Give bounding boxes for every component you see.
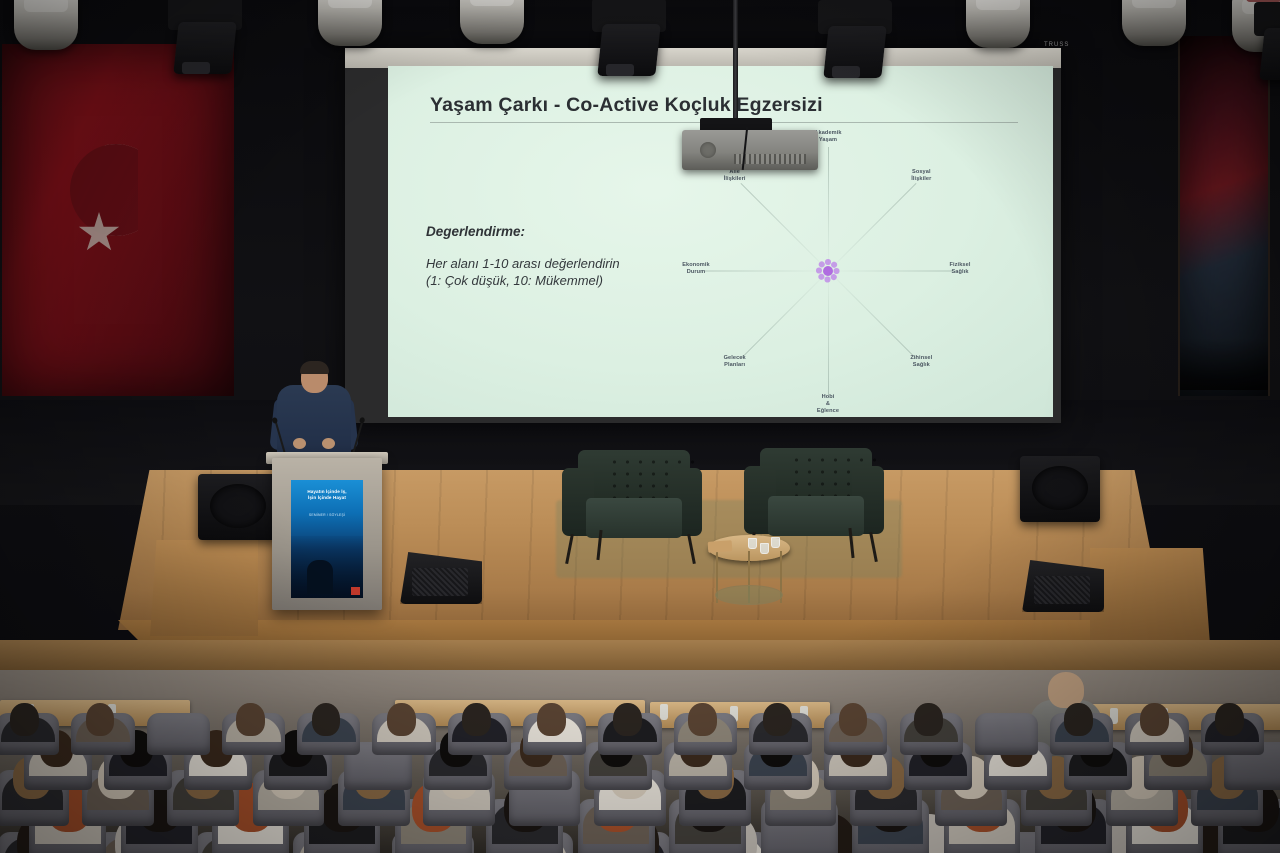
poster-logo: [351, 587, 360, 595]
audience-member-head: [688, 703, 717, 735]
portrait-frame: [1178, 36, 1270, 396]
audience-member-head: [839, 703, 868, 735]
presenter-hand-right: [322, 438, 335, 449]
speaker-grill: [412, 568, 468, 596]
wheel-segment-label: Ekonomik Durum: [666, 262, 726, 276]
water-bottle: [660, 704, 668, 720]
wheel-segment-label: Gelecek Planları: [705, 355, 765, 369]
poster-title: Hayatın İçinde İş, İşin İçinde Hayat: [291, 489, 363, 501]
poster-subtitle: SEMİNER / SÖYLEŞİ: [291, 513, 363, 517]
water-glass: [748, 538, 757, 549]
ceiling-projector: [682, 130, 818, 170]
house-wood-trim: [0, 640, 1280, 670]
moving-head-light: [168, 0, 242, 82]
par-can-light: [1122, 0, 1186, 46]
moving-head-light: [1254, 2, 1280, 88]
moving-head-light: [592, 0, 666, 84]
moving-head-lens: [606, 64, 634, 76]
slide-title: Yaşam Çarkı - Co-Active Koçluk Egzersizi: [430, 94, 823, 117]
wheel-spoke: [828, 271, 829, 395]
par-can-light: [14, 0, 78, 50]
wheel-segment-label: Fiziksel Sağlık: [930, 262, 990, 276]
audience-member-head: [1140, 703, 1169, 735]
audience-member-head: [236, 703, 265, 735]
par-can-light: [460, 0, 524, 44]
par-can-light: [318, 0, 382, 46]
audience-member-head: [10, 703, 39, 735]
evaluation-line-2: (1: Çok düşük, 10: Mükemmel): [426, 273, 603, 288]
armchair-leg: [687, 534, 696, 564]
projector-drop-pole: [733, 0, 738, 128]
pa-speaker: [198, 474, 278, 540]
podium-poster: Hayatın İçinde İş, İşin İçinde Hayat SEM…: [291, 480, 363, 598]
wheel-spoke: [828, 271, 916, 359]
evaluation-line-1: Her alanı 1-10 arası değerlendirin: [426, 256, 620, 271]
armchair: [556, 450, 708, 560]
stage-step-left: [150, 540, 258, 636]
evaluation-heading: Degerlendirme:: [426, 224, 525, 239]
audience-member-head: [613, 703, 642, 735]
audience-member-head: [763, 703, 792, 735]
moving-head-lens: [832, 66, 860, 78]
wheel-segment-label: Aile İlişkileri: [705, 169, 765, 183]
wheel-spoke: [828, 147, 829, 271]
water-glass: [760, 543, 769, 554]
wheel-segment-label: Zihinsel Sağlık: [891, 355, 951, 369]
audience-member-head: [86, 703, 115, 735]
flag-crescent-icon: [46, 144, 138, 236]
audience-member-head: [312, 703, 341, 735]
wheel-segment-label: Hobi & Eğlence: [798, 394, 858, 415]
audience-member-head: [914, 703, 943, 735]
wheel-segment-label: Sosyal İlişkiler: [891, 169, 951, 183]
table-napkin: [708, 540, 733, 553]
speaker-grill: [1034, 576, 1090, 604]
pa-speaker: [1020, 456, 1100, 522]
moving-head-lens: [182, 62, 210, 74]
armchair-leg: [869, 532, 878, 562]
speaker-horn: [210, 484, 266, 528]
speaker-horn: [1032, 466, 1088, 510]
coffee-table-shelf: [715, 585, 783, 605]
audience-member-head: [1215, 703, 1244, 735]
audience-member-head: [1064, 703, 1093, 735]
par-can-light: [966, 0, 1030, 48]
auditorium-seat: [147, 713, 210, 755]
wheel-spoke: [740, 271, 828, 359]
armchair-leg: [565, 534, 574, 564]
presenter-hand-left: [293, 438, 306, 449]
wheel-spoke: [828, 183, 916, 271]
screen-roller-housing: [345, 48, 1061, 68]
audience-member-head: [462, 703, 491, 735]
poster-figure: [307, 560, 333, 594]
stage-step-right: [1090, 548, 1210, 644]
water-glass: [771, 537, 780, 548]
wheel-spoke: [740, 183, 828, 271]
truss-brand-label: TRUSS: [1044, 42, 1069, 48]
auditorium-seat: [975, 713, 1038, 755]
presenter-hair: [300, 361, 329, 374]
turkish-flag: [2, 44, 234, 396]
moving-head-light: [818, 0, 892, 86]
audience-member-head: [537, 703, 566, 735]
audience-member-head: [387, 703, 416, 735]
auditorium-scene: Yaşam Çarkı - Co-Active Koçluk Egzersizi…: [0, 0, 1280, 853]
